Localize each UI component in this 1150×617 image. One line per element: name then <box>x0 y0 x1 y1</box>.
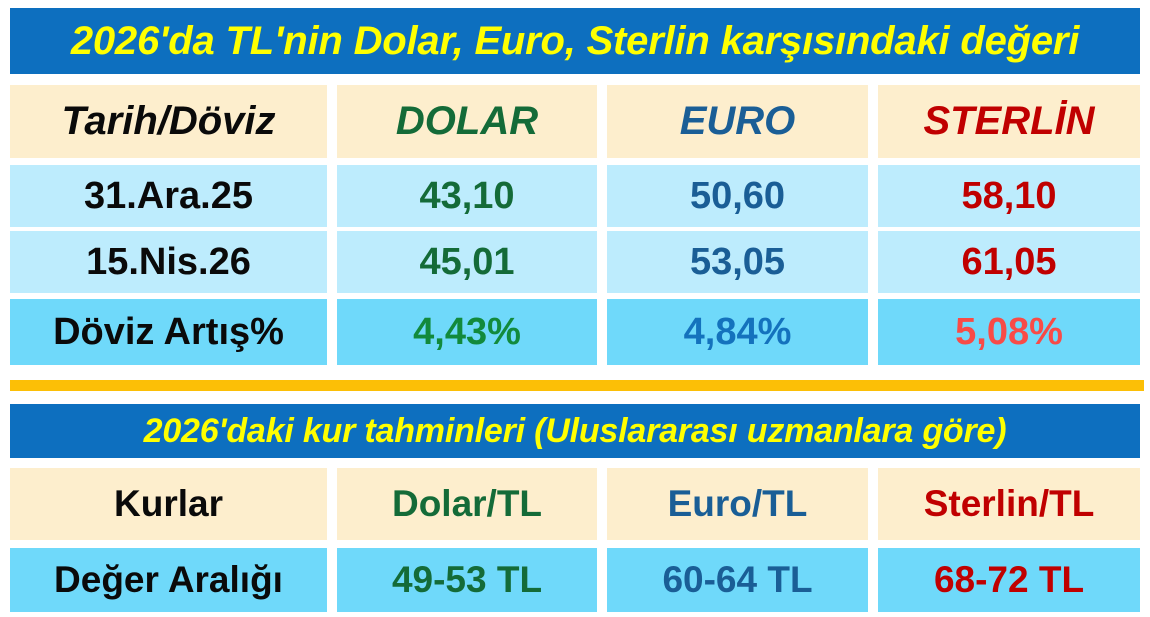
bottom-header-euro-tl: Euro/TL <box>607 468 868 540</box>
cell-dolar: 4,43% <box>337 299 597 365</box>
cell-sterlin: 5,08% <box>878 299 1140 365</box>
top-header-sterlin: STERLİN <box>878 85 1140 158</box>
cell-sterlin: 61,05 <box>878 231 1140 293</box>
top-header-dolar: DOLAR <box>337 85 597 158</box>
top-header-euro: EURO <box>607 85 868 158</box>
cell-euro: 53,05 <box>607 231 868 293</box>
section-divider <box>10 380 1144 391</box>
cell-euro: 4,84% <box>607 299 868 365</box>
cell-dolar: 45,01 <box>337 231 597 293</box>
bottom-header-kurlar: Kurlar <box>10 468 327 540</box>
cell-sterlin: 68-72 TL <box>878 548 1140 612</box>
cell-euro: 50,60 <box>607 165 868 227</box>
top-header-tarih-doviz: Tarih/Döviz <box>10 85 327 158</box>
bottom-header-sterlin-tl: Sterlin/TL <box>878 468 1140 540</box>
cell-dolar: 49-53 TL <box>337 548 597 612</box>
top-banner-title: 2026'da TL'nin Dolar, Euro, Sterlin karş… <box>10 8 1140 74</box>
row-label: 31.Ara.25 <box>10 165 327 227</box>
row-label: 15.Nis.26 <box>10 231 327 293</box>
row-label: Değer Aralığı <box>10 548 327 612</box>
row-label: Döviz Artış% <box>10 299 327 365</box>
cell-euro: 60-64 TL <box>607 548 868 612</box>
currency-table-infographic: 2026'da TL'nin Dolar, Euro, Sterlin karş… <box>0 0 1150 617</box>
cell-sterlin: 58,10 <box>878 165 1140 227</box>
bottom-banner-title: 2026'daki kur tahminleri (Uluslararası u… <box>10 404 1140 458</box>
cell-dolar: 43,10 <box>337 165 597 227</box>
bottom-header-dolar-tl: Dolar/TL <box>337 468 597 540</box>
